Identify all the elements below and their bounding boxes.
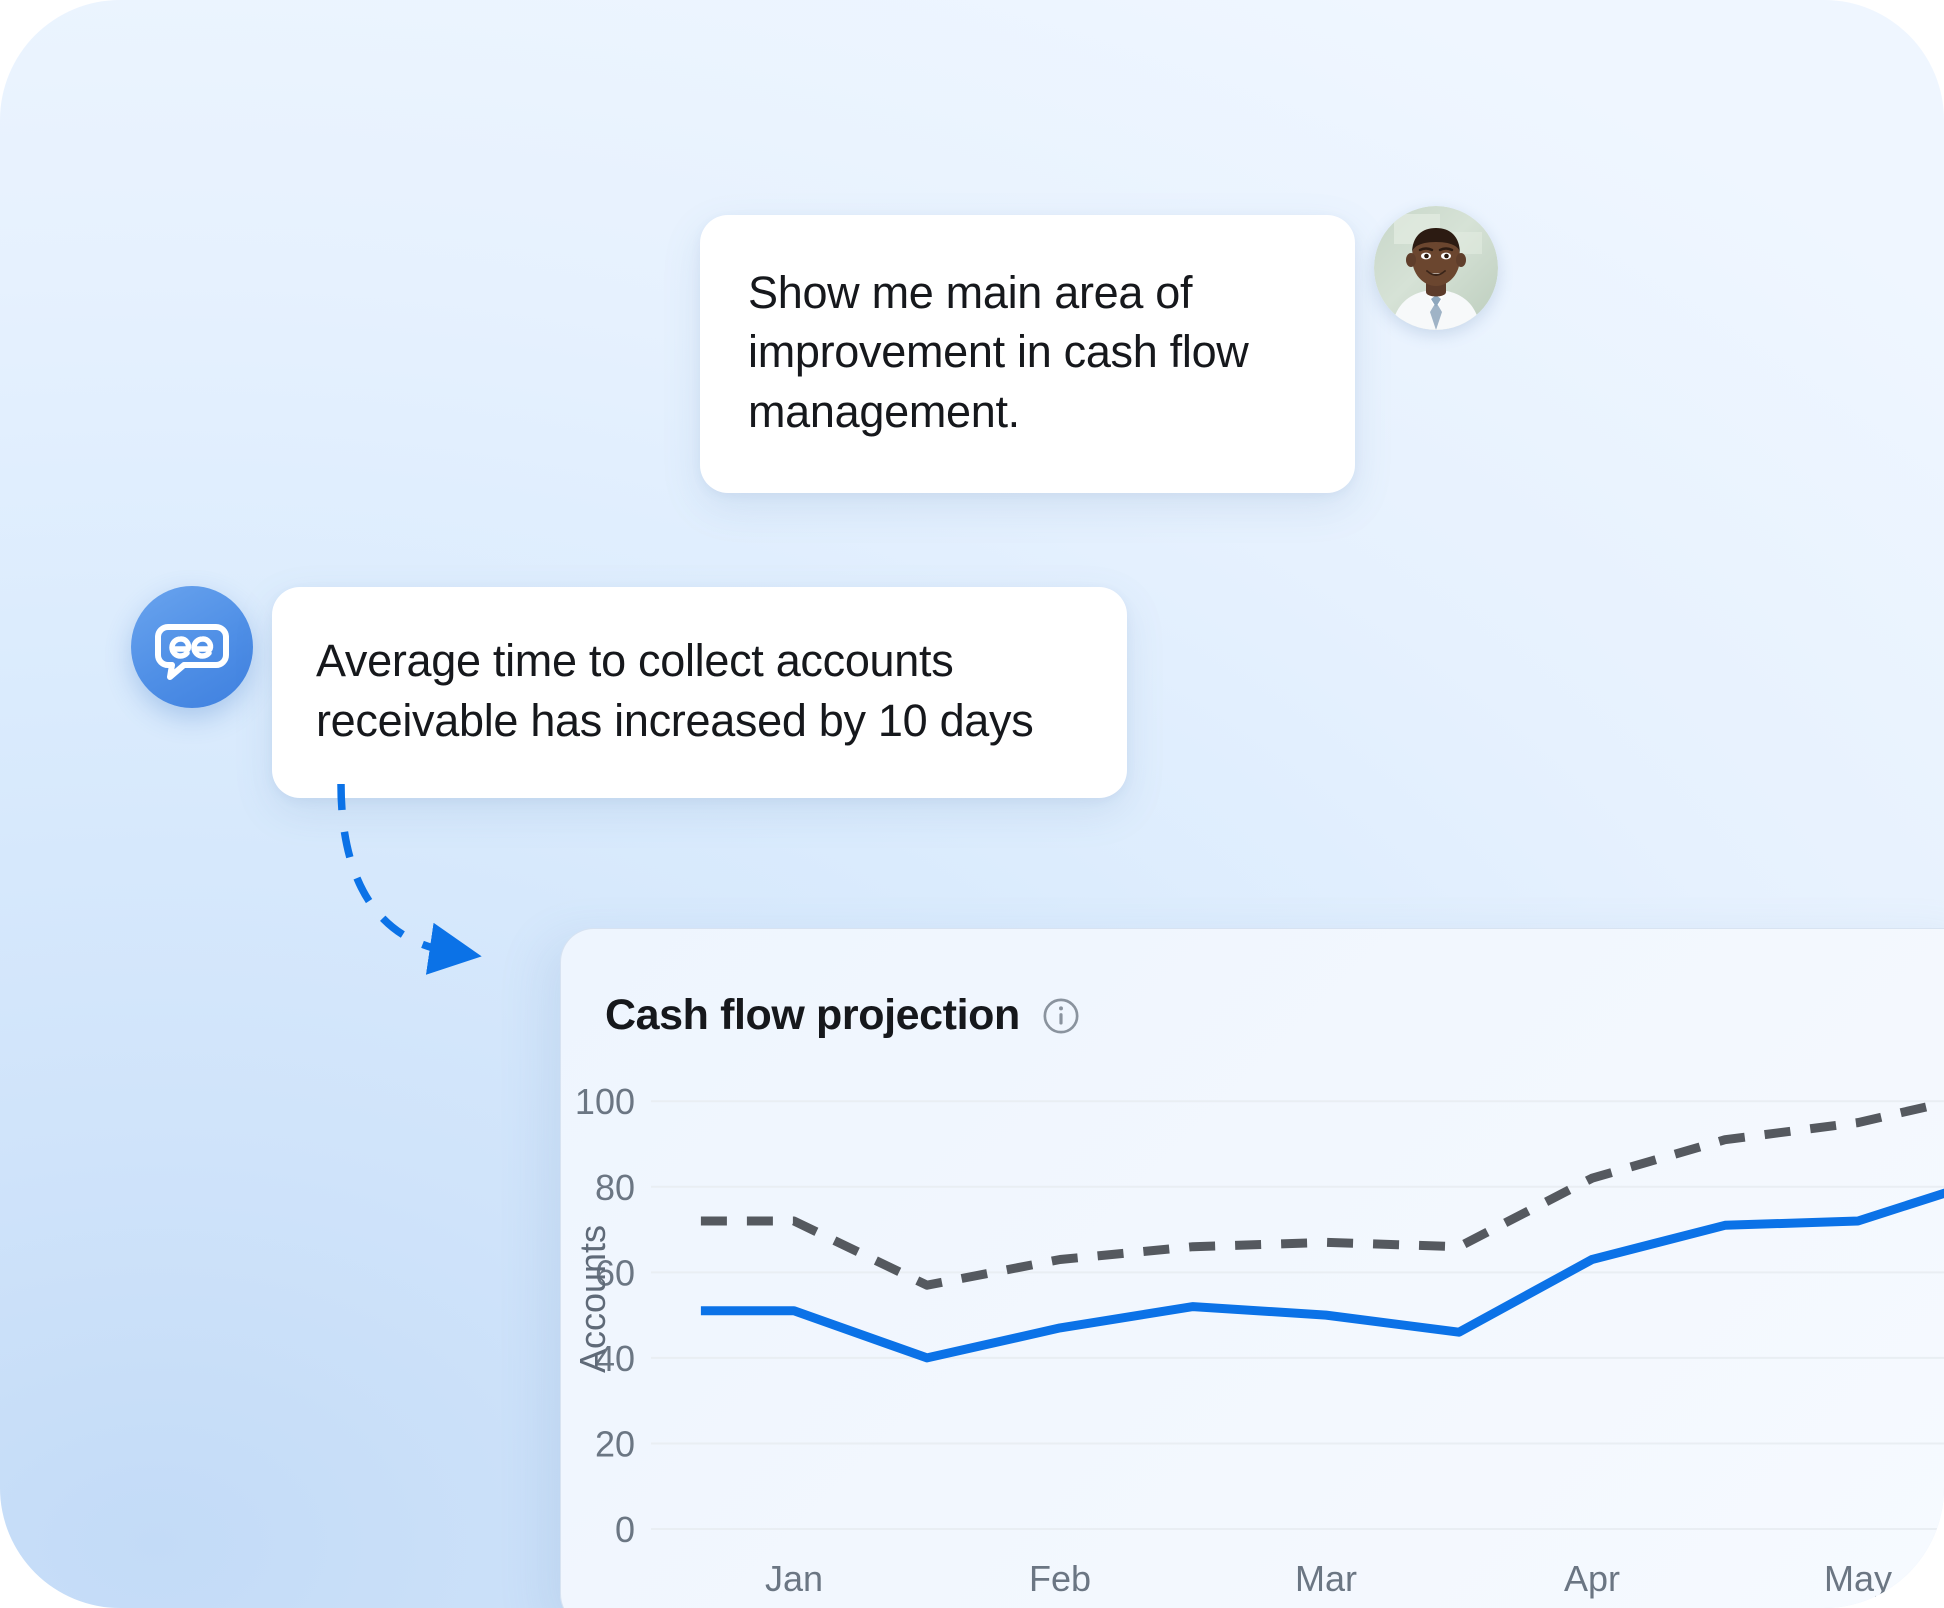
app-canvas: Show me main area of improvement in cash…	[0, 0, 1944, 1608]
assistant-logo-ee	[131, 586, 253, 708]
series-line-projection	[701, 1101, 1944, 1285]
y-tick-label: 100	[575, 1081, 635, 1122]
series-line-actual	[701, 1191, 1944, 1358]
card-title: Cash flow projection	[605, 991, 1020, 1040]
assistant-message-text: Average time to collect accounts receiva…	[316, 631, 1083, 752]
assistant-message-bubble: Average time to collect accounts receiva…	[272, 587, 1127, 798]
cash-flow-line-chart: 020406080100 JanFebMarAprMay Accounts	[561, 1049, 1944, 1608]
cash-flow-projection-card: Cash flow projection 020406080100 JanFeb…	[560, 928, 1944, 1608]
y-tick-label: 0	[615, 1509, 635, 1550]
x-tick-label: Apr	[1564, 1558, 1620, 1599]
user-message-bubble: Show me main area of improvement in cash…	[700, 215, 1355, 493]
x-tick-label: Feb	[1029, 1558, 1091, 1599]
chart-y-axis-title: Accounts	[572, 1225, 613, 1373]
x-tick-label: May	[1824, 1558, 1892, 1599]
card-header: Cash flow projection	[605, 991, 1080, 1040]
y-tick-label: 80	[595, 1167, 635, 1208]
user-message-text: Show me main area of improvement in cash…	[748, 263, 1307, 441]
y-tick-label: 20	[595, 1423, 635, 1464]
user-avatar	[1374, 206, 1498, 330]
chart-x-tick-labels: JanFebMarAprMay	[765, 1558, 1892, 1599]
x-tick-label: Jan	[765, 1558, 823, 1599]
speech-bubble-ee-icon	[154, 609, 230, 685]
info-circle-icon[interactable]	[1042, 997, 1080, 1035]
x-tick-label: Mar	[1295, 1558, 1357, 1599]
